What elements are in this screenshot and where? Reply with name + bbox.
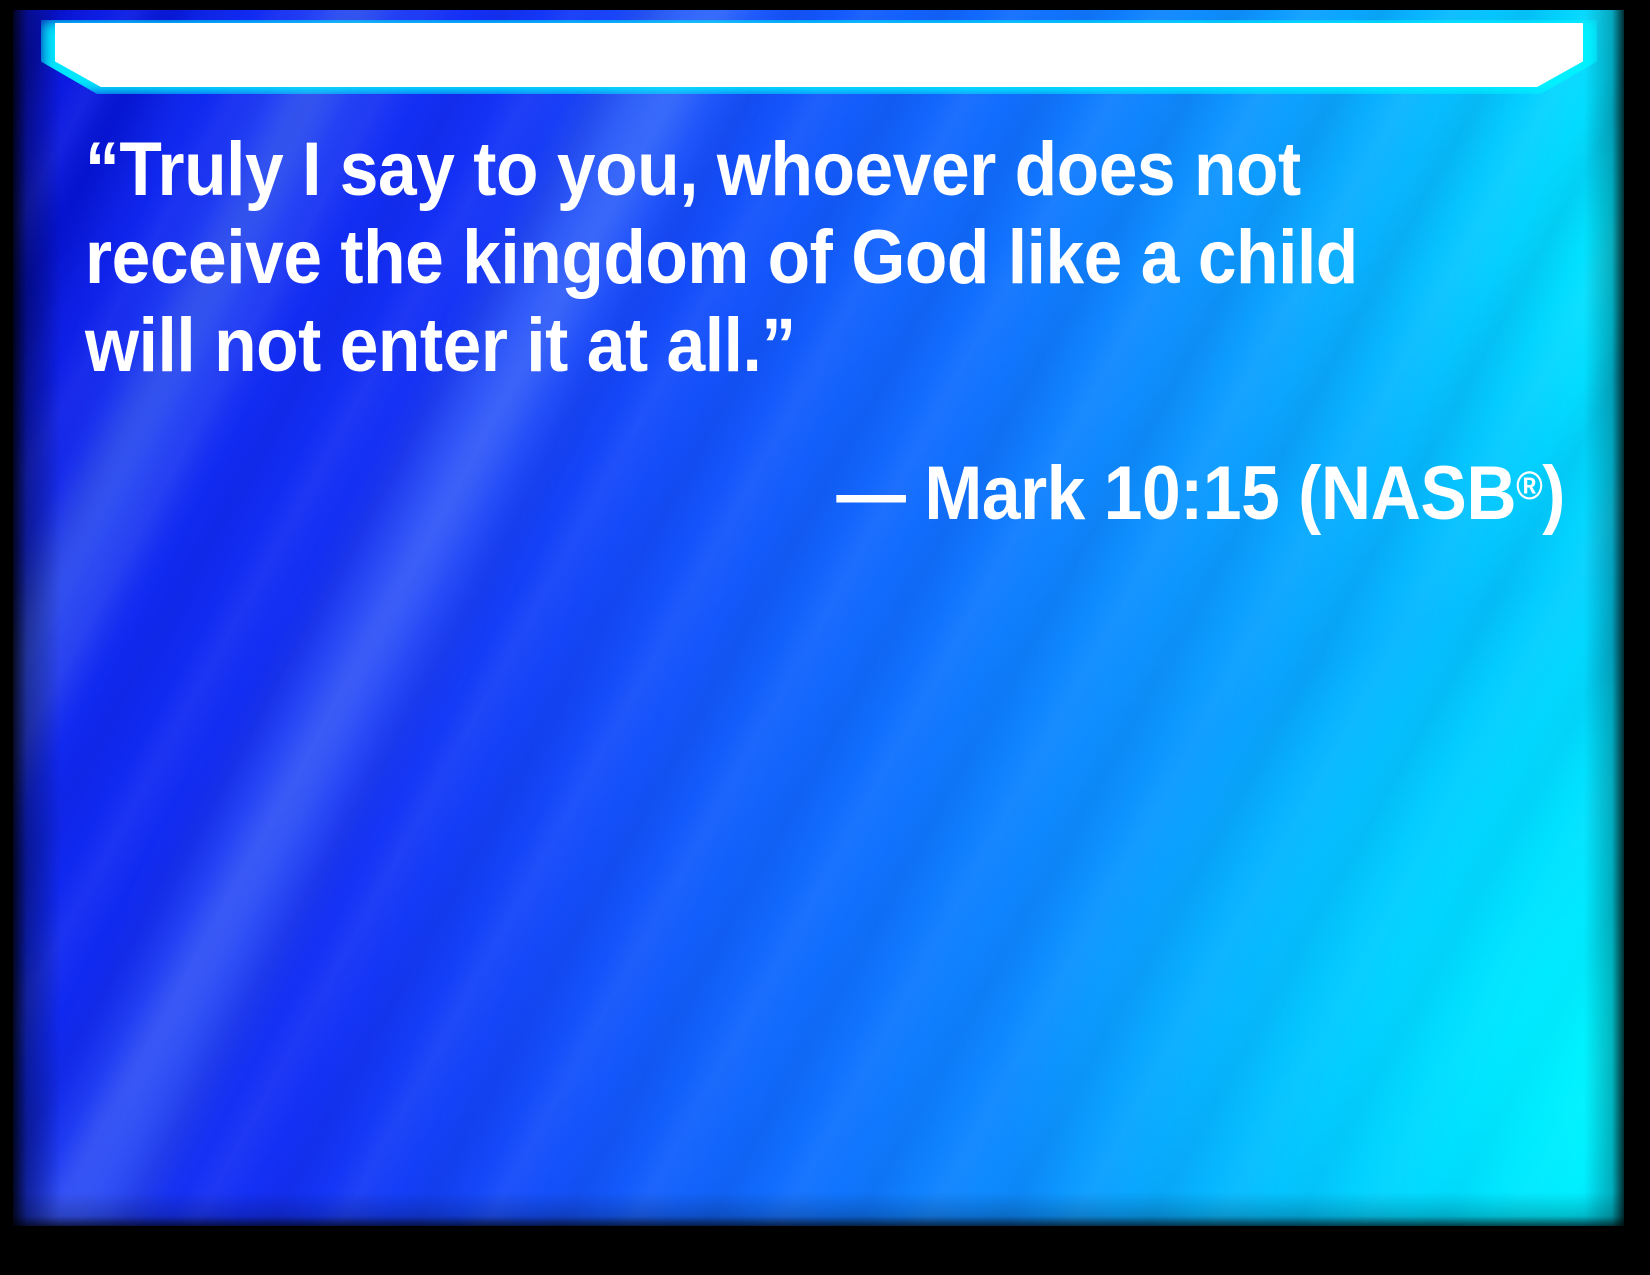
- registered-trademark-icon: ®: [1516, 464, 1542, 508]
- slide-canvas: “Truly I say to you, whoever does not re…: [0, 0, 1650, 1275]
- verse-line-2: receive the kingdom of God like a child: [85, 214, 1439, 302]
- attribution-prefix: — Mark 10:15 (NASB: [836, 451, 1516, 536]
- top-banner: [13, 10, 1624, 102]
- verse-line-1: “Truly I say to you, whoever does not: [85, 126, 1439, 214]
- verse-attribution: — Mark 10:15 (NASB®): [211, 442, 1565, 538]
- verse-line-3: will not enter it at all.”: [85, 302, 1439, 390]
- top-banner-bar: [55, 23, 1583, 87]
- verse-text-block: “Truly I say to you, whoever does not re…: [85, 126, 1565, 538]
- slide-background: “Truly I say to you, whoever does not re…: [13, 10, 1624, 1226]
- attribution-suffix: ): [1542, 451, 1565, 536]
